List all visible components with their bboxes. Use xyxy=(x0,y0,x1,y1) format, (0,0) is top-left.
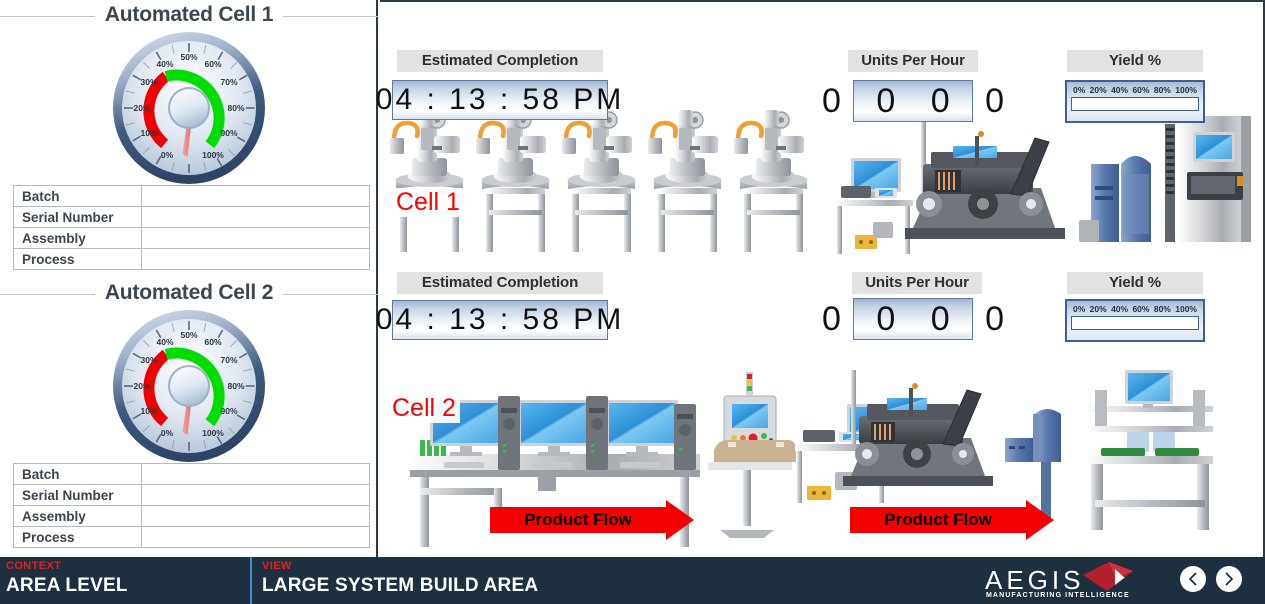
table-row: Batch xyxy=(14,464,370,485)
yield-widget-2[interactable]: 0% 20% 40% 60% 80% 100% xyxy=(1065,299,1205,342)
svg-text:0%: 0% xyxy=(161,150,174,160)
svg-text:70%: 70% xyxy=(220,77,237,87)
cell-1-info-table: Batch Serial Number Assembly Process xyxy=(13,185,370,270)
product-flow-arrow-2: Product Flow xyxy=(850,500,1054,540)
row-key: Process xyxy=(14,527,142,548)
yield-progress-bar-2 xyxy=(1071,316,1199,330)
row-value[interactable] xyxy=(142,464,370,485)
status-bar: CONTEXT AREA LEVEL VIEW LARGE SYSTEM BUI… xyxy=(0,557,1265,604)
gauge-dial-svg: 50% 40% 60% 30% 70% 20% 80% 10% 90% 0% 1… xyxy=(111,308,267,464)
units-per-hour-value-2[interactable]: 0 0 0 0 xyxy=(853,298,973,340)
yield-tick: 80% xyxy=(1154,304,1171,314)
previous-view-button[interactable] xyxy=(1180,566,1206,592)
yield-tick: 0% xyxy=(1073,304,1085,314)
row-key: Serial Number xyxy=(14,207,142,228)
title-rule-left xyxy=(0,16,95,17)
svg-text:40%: 40% xyxy=(156,59,173,69)
units-per-hour-label-2: Units Per Hour xyxy=(852,272,982,294)
flow-arrow-head xyxy=(1026,500,1054,540)
estimated-completion-label-2: Estimated Completion xyxy=(397,272,603,294)
gauge-dial-svg: 50% 40% 60% 30% 70% 20% 80% 10% 90% 0% 1… xyxy=(111,30,267,186)
cell-2-process-row: Estimated Completion 04 : 13 : 58 PM Cel… xyxy=(380,270,1265,559)
row-key: Batch xyxy=(14,464,142,485)
svg-text:10%: 10% xyxy=(140,406,157,416)
estimated-completion-label-1: Estimated Completion xyxy=(397,50,603,72)
cell-2-title: Automated Cell 2 xyxy=(95,281,283,305)
cell-2-title-row: Automated Cell 2 xyxy=(0,278,378,308)
context-label: CONTEXT xyxy=(6,560,250,572)
yield-tick: 40% xyxy=(1111,85,1128,95)
row-value[interactable] xyxy=(142,249,370,270)
yield-progress-bar-1 xyxy=(1071,97,1199,111)
units-per-hour-label-1: Units Per Hour xyxy=(848,50,978,72)
svg-text:50%: 50% xyxy=(180,52,197,62)
cell-2-tag: Cell 2 xyxy=(388,394,460,423)
flow-arrow-body: Product Flow xyxy=(490,507,666,533)
svg-text:40%: 40% xyxy=(156,337,173,347)
cell-panel-1: Automated Cell 1 xyxy=(0,0,378,278)
svg-text:100%: 100% xyxy=(202,150,224,160)
cell-2-gauge[interactable]: 50% 40% 60% 30% 70% 20% 80% 10% 90% 0% 1… xyxy=(111,308,267,464)
title-rule-right xyxy=(283,294,378,295)
view-value: LARGE SYSTEM BUILD AREA xyxy=(262,575,960,597)
yield-tick: 60% xyxy=(1132,85,1149,95)
chevron-right-icon xyxy=(1223,572,1235,586)
estimated-completion-value-2[interactable]: 04 : 13 : 58 PM xyxy=(392,300,608,340)
svg-text:90%: 90% xyxy=(220,406,237,416)
left-sidebar: Automated Cell 1 xyxy=(0,0,378,557)
row-value[interactable] xyxy=(142,485,370,506)
title-rule-right xyxy=(283,16,378,17)
cell-1-tag: Cell 1 xyxy=(392,188,464,217)
table-row: Serial Number xyxy=(14,207,370,228)
row-key: Assembly xyxy=(14,506,142,527)
context-segment: CONTEXT AREA LEVEL xyxy=(0,557,250,604)
yield-label-2: Yield % xyxy=(1067,272,1203,294)
svg-text:60%: 60% xyxy=(204,59,221,69)
table-row: Process xyxy=(14,249,370,270)
table-row: Batch xyxy=(14,186,370,207)
yield-tick: 20% xyxy=(1090,304,1107,314)
svg-text:30%: 30% xyxy=(140,355,157,365)
product-flow-label: Product Flow xyxy=(524,510,632,530)
svg-text:20%: 20% xyxy=(133,381,150,391)
svg-text:80%: 80% xyxy=(227,103,244,113)
svg-text:80%: 80% xyxy=(227,381,244,391)
view-label: VIEW xyxy=(262,560,960,572)
assembly-station-art xyxy=(835,102,1255,260)
cell-1-gauge-wrap: 50% 40% 60% 30% 70% 20% 80% 10% 90% 0% 1… xyxy=(0,30,378,188)
yield-tick: 100% xyxy=(1175,85,1197,95)
yield-label-1: Yield % xyxy=(1067,50,1203,72)
aegis-logo: AEGIS MANUFACTURING INTELLIGENCE xyxy=(985,561,1135,603)
row-value[interactable] xyxy=(142,228,370,249)
row-value[interactable] xyxy=(142,506,370,527)
view-navigation xyxy=(1180,566,1242,592)
table-row: Assembly xyxy=(14,506,370,527)
row-value[interactable] xyxy=(142,207,370,228)
svg-text:10%: 10% xyxy=(140,128,157,138)
svg-text:20%: 20% xyxy=(133,103,150,113)
next-view-button[interactable] xyxy=(1216,566,1242,592)
cell-1-title: Automated Cell 1 xyxy=(95,3,283,27)
cell-2-info-table: Batch Serial Number Assembly Process xyxy=(13,463,370,548)
aegis-mark-icon xyxy=(1081,561,1135,595)
yield-tick: 20% xyxy=(1090,85,1107,95)
svg-text:50%: 50% xyxy=(180,330,197,340)
flow-arrow-head xyxy=(666,500,694,540)
table-row: Serial Number xyxy=(14,485,370,506)
units-per-hour-value-1[interactable]: 0 0 0 0 xyxy=(853,80,973,122)
yield-tick: 100% xyxy=(1175,304,1197,314)
row-key: Process xyxy=(14,249,142,270)
yield-tick: 0% xyxy=(1073,85,1085,95)
row-key: Batch xyxy=(14,186,142,207)
yield-tick: 40% xyxy=(1111,304,1128,314)
hmi-dashboard: Automated Cell 1 xyxy=(0,0,1265,604)
yield-widget-1[interactable]: 0% 20% 40% 60% 80% 100% xyxy=(1065,80,1205,123)
flow-arrow-body: Product Flow xyxy=(850,507,1026,533)
svg-text:90%: 90% xyxy=(220,128,237,138)
cell-1-gauge[interactable]: 50% 40% 60% 30% 70% 20% 80% 10% 90% 0% 1… xyxy=(111,30,267,186)
yield-tick: 80% xyxy=(1154,85,1171,95)
view-segment: VIEW LARGE SYSTEM BUILD AREA xyxy=(250,557,960,604)
context-value: AREA LEVEL xyxy=(6,575,250,597)
yield-scale-1: 0% 20% 40% 60% 80% 100% xyxy=(1071,85,1199,97)
svg-text:30%: 30% xyxy=(140,77,157,87)
yield-tick: 60% xyxy=(1132,304,1149,314)
product-flow-label: Product Flow xyxy=(884,510,992,530)
svg-text:100%: 100% xyxy=(202,428,224,438)
estimated-completion-value-1[interactable]: 04 : 13 : 58 PM xyxy=(392,80,608,120)
chevron-left-icon xyxy=(1187,572,1199,586)
table-row: Process xyxy=(14,527,370,548)
cell-1-title-row: Automated Cell 1 xyxy=(0,0,378,30)
row-key: Serial Number xyxy=(14,485,142,506)
cell-panel-2: Automated Cell 2 xyxy=(0,278,378,556)
row-value[interactable] xyxy=(142,527,370,548)
svg-text:0%: 0% xyxy=(161,428,174,438)
row-key: Assembly xyxy=(14,228,142,249)
cell-2-gauge-wrap: 50% 40% 60% 30% 70% 20% 80% 10% 90% 0% 1… xyxy=(0,308,378,466)
cell-1-process-row: Estimated Completion 04 : 13 : 58 PM Cel… xyxy=(380,2,1265,270)
svg-text:60%: 60% xyxy=(204,337,221,347)
main-process-view: Estimated Completion 04 : 13 : 58 PM Cel… xyxy=(380,0,1265,557)
yield-scale-2: 0% 20% 40% 60% 80% 100% xyxy=(1071,304,1199,316)
product-flow-arrow-1: Product Flow xyxy=(490,500,694,540)
table-row: Assembly xyxy=(14,228,370,249)
svg-text:70%: 70% xyxy=(220,355,237,365)
row-value[interactable] xyxy=(142,186,370,207)
title-rule-left xyxy=(0,294,95,295)
